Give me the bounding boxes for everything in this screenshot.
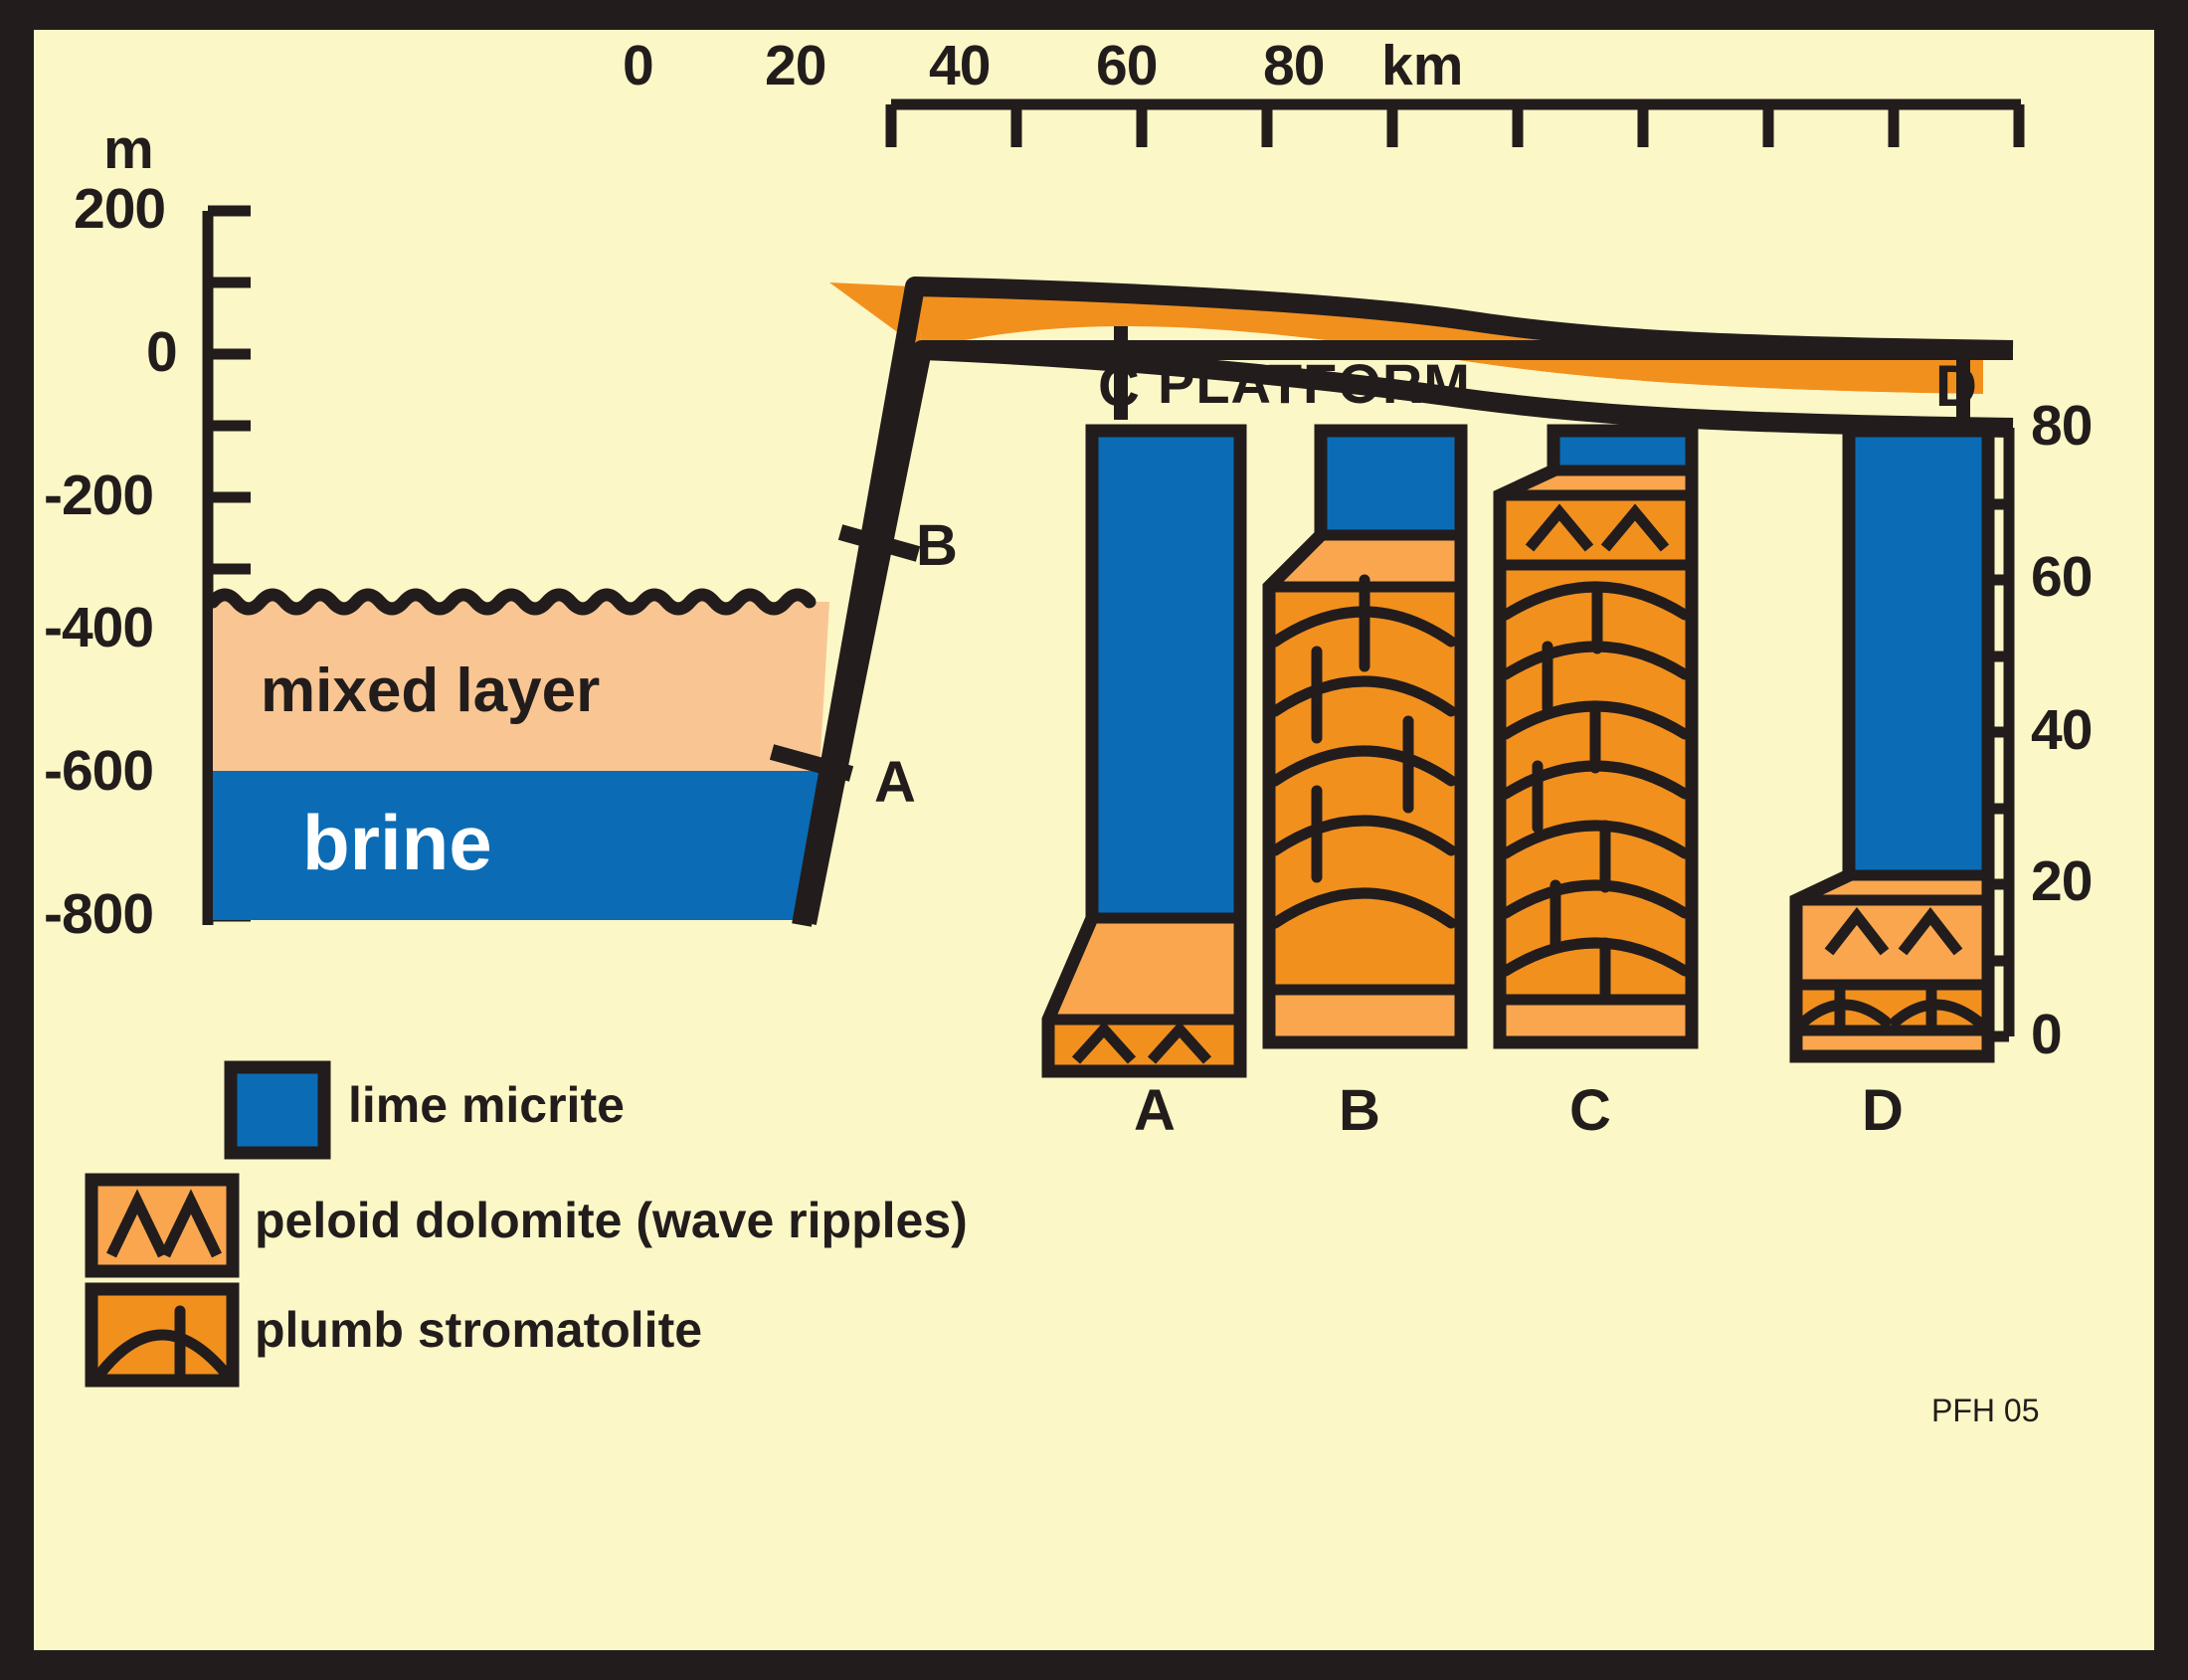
legend-label-peloid-dolomite: peloid dolomite (wave ripples) [255, 1196, 968, 1245]
core-label-b: B [1339, 1082, 1380, 1140]
depth-tick-label-m800: -800 [44, 886, 153, 943]
core-label-d: D [1862, 1082, 1904, 1140]
depth-axis-unit: m [103, 121, 154, 178]
core-b-lime-micrite [1321, 431, 1461, 535]
core-column-d[interactable] [1796, 431, 1988, 1056]
core-column-a[interactable] [1048, 431, 1240, 1071]
core-c-ripple-band [1500, 495, 1692, 565]
mixed-layer-label: mixed layer [261, 660, 600, 722]
core-column-c[interactable] [1500, 431, 1692, 1042]
core-a-lime-micrite [1092, 431, 1240, 918]
slope-marker-label-a: A [874, 754, 916, 812]
distance-tick-label-60: 60 [1096, 38, 1157, 94]
brine-label: brine [302, 804, 492, 881]
depth-tick-label-m200: -200 [44, 467, 153, 524]
depth-tick-label-0: 0 [146, 324, 177, 381]
distance-tick-label-80: 80 [1263, 38, 1324, 94]
legend-swatch-lime-micrite [231, 1067, 324, 1153]
legend-label-plumb-stromatolite: plumb stromatolite [255, 1305, 702, 1355]
distance-tick-label-0: 0 [623, 38, 653, 94]
core-label-a: A [1134, 1082, 1176, 1140]
slope-marker-label-b: B [916, 517, 958, 575]
thickness-tick-label-40: 40 [2031, 702, 2092, 759]
platform-label: PLATFORM [1158, 356, 1471, 412]
distance-tick-label-20: 20 [765, 38, 825, 94]
core-b-peloid-dolomite-lower [1269, 990, 1461, 1042]
legend-label-lime-micrite: lime micrite [348, 1080, 625, 1130]
figure-canvas: m 200 0 -200 -400 -600 -800 0 20 40 60 8… [34, 30, 2154, 1650]
platform-marker-label-c: C [1098, 358, 1140, 416]
distance-tick-label-40: 40 [929, 38, 990, 94]
legend-swatch-peloid-dolomite [91, 1180, 233, 1271]
thickness-tick-label-0: 0 [2031, 1007, 2062, 1063]
distance-axis-unit: km [1381, 38, 1463, 94]
core-d-lime-micrite [1849, 431, 1988, 875]
depth-tick-label-200: 200 [74, 181, 165, 238]
marker-tick-b [840, 532, 918, 554]
platform-marker-label-d: D [1935, 358, 1977, 416]
depth-tick-label-m600: -600 [44, 743, 153, 800]
distance-axis [891, 104, 2021, 147]
core-column-b[interactable] [1269, 431, 1461, 1042]
depth-tick-label-m400: -400 [44, 600, 153, 656]
figure-frame: m 200 0 -200 -400 -600 -800 0 20 40 60 8… [0, 0, 2188, 1680]
core-d-ripple-band [1796, 900, 1988, 985]
thickness-tick-label-80: 80 [2031, 398, 2092, 455]
core-a-stromatolite-band [1048, 1020, 1240, 1071]
core-label-c: C [1569, 1082, 1611, 1140]
figure-credit: PFH 05 [1931, 1395, 2039, 1426]
thickness-tick-label-20: 20 [2031, 853, 2092, 910]
thickness-tick-label-60: 60 [2031, 549, 2092, 606]
